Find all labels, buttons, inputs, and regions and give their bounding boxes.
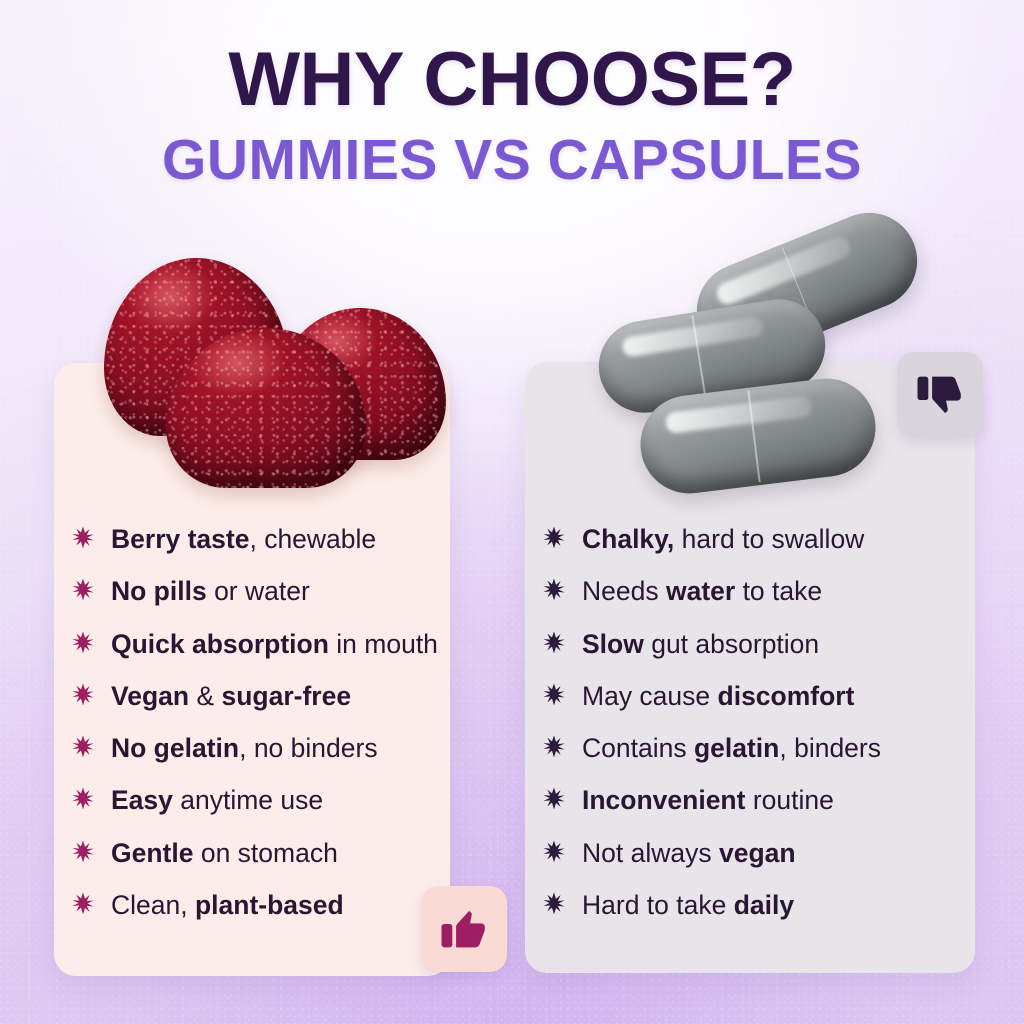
list-item: Berry taste, chewable: [72, 524, 502, 556]
list-item: Easy anytime use: [72, 785, 502, 817]
list-item-label: Clean, plant-based: [111, 890, 344, 922]
thumbs-up-icon: [439, 904, 489, 954]
list-item: Slow gut absorption: [543, 629, 973, 661]
page-subtitle: GUMMIES VS CAPSULES: [0, 132, 1024, 189]
gummies-photo: [96, 248, 468, 486]
list-item-label: Berry taste, chewable: [111, 524, 376, 556]
star-bullet-icon: [72, 892, 94, 914]
thumbs-up-badge: [421, 886, 507, 972]
list-item-label: Gentle on stomach: [111, 838, 338, 870]
list-item-label: Inconvenient routine: [582, 785, 834, 817]
star-bullet-icon: [543, 631, 565, 653]
list-item-label: Hard to take daily: [582, 890, 794, 922]
star-bullet-icon: [72, 683, 94, 705]
star-bullet-icon: [72, 631, 94, 653]
list-item: Hard to take daily: [543, 890, 973, 922]
thumbs-down-icon: [915, 370, 965, 420]
gummies-benefit-list: Berry taste, chewableNo pills or waterQu…: [72, 524, 502, 942]
list-item-label: No gelatin, no binders: [111, 733, 378, 765]
star-bullet-icon: [72, 735, 94, 757]
infographic-canvas: WHY CHOOSE? GUMMIES VS CAPSULES Berry ta…: [0, 0, 1024, 1024]
star-bullet-icon: [543, 578, 565, 600]
capsules-drawback-list: Chalky, hard to swallowNeeds water to ta…: [543, 524, 973, 942]
star-bullet-icon: [543, 526, 565, 548]
list-item-label: May cause discomfort: [582, 681, 854, 713]
list-item: Vegan & sugar-free: [72, 681, 502, 713]
star-bullet-icon: [72, 787, 94, 809]
list-item: Quick absorption in mouth: [72, 629, 502, 661]
list-item-label: Vegan & sugar-free: [111, 681, 351, 713]
list-item-label: Chalky, hard to swallow: [582, 524, 864, 556]
star-bullet-icon: [543, 840, 565, 862]
capsule-gloss: [713, 234, 853, 307]
star-bullet-icon: [543, 892, 565, 914]
list-item-label: Not always vegan: [582, 838, 796, 870]
star-bullet-icon: [72, 578, 94, 600]
page-title: WHY CHOOSE?: [0, 42, 1024, 118]
list-item: May cause discomfort: [543, 681, 973, 713]
header: WHY CHOOSE? GUMMIES VS CAPSULES: [0, 42, 1024, 189]
list-item: Contains gelatin, binders: [543, 733, 973, 765]
star-bullet-icon: [543, 735, 565, 757]
list-item-label: Easy anytime use: [111, 785, 323, 817]
list-item: Chalky, hard to swallow: [543, 524, 973, 556]
list-item: Inconvenient routine: [543, 785, 973, 817]
list-item: Not always vegan: [543, 838, 973, 870]
list-item: No pills or water: [72, 576, 502, 608]
star-bullet-icon: [543, 683, 565, 705]
capsule-gloss: [665, 395, 813, 434]
star-bullet-icon: [72, 840, 94, 862]
list-item-label: Slow gut absorption: [582, 629, 819, 661]
list-item: Gentle on stomach: [72, 838, 502, 870]
star-bullet-icon: [543, 787, 565, 809]
list-item-label: Contains gelatin, binders: [582, 733, 881, 765]
capsules-photo: [592, 232, 908, 512]
list-item-label: Needs water to take: [582, 576, 822, 608]
star-bullet-icon: [72, 526, 94, 548]
list-item-label: Quick absorption in mouth: [111, 629, 438, 661]
list-item: No gelatin, no binders: [72, 733, 502, 765]
list-item: Needs water to take: [543, 576, 973, 608]
list-item-label: No pills or water: [111, 576, 310, 608]
thumbs-down-badge: [897, 352, 983, 438]
